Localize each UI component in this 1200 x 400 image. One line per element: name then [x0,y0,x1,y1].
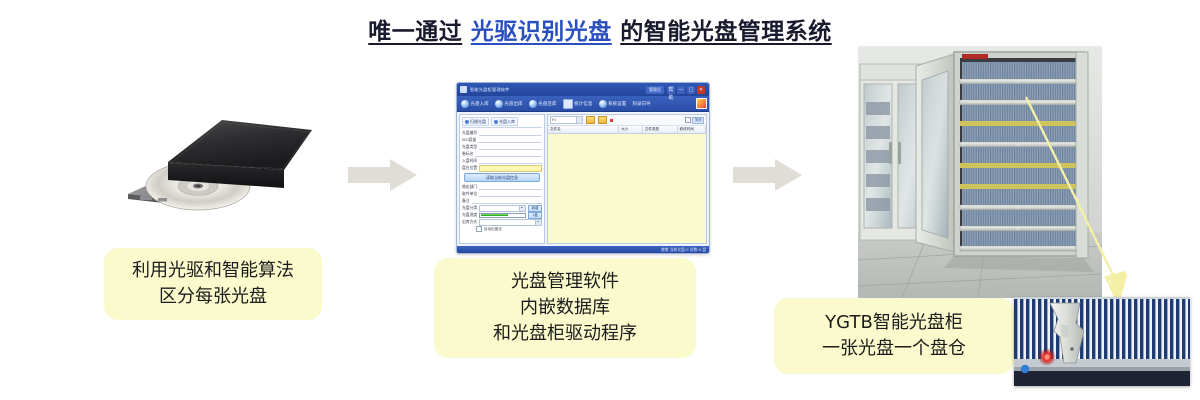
toolbar-label: 系统设置 [608,101,626,107]
software-file-list-panel: F:\ 关闭 文件名 大小 文件类型 修改时间 [547,114,707,244]
field-label: 入盘时间 [462,158,477,164]
caption-middle-line2: 内嵌数据库 [520,295,610,321]
toolbar-item-disc-return[interactable]: 光盘还库 [527,99,559,109]
volume-label-input[interactable] [475,152,542,157]
chevron-down-icon [519,206,525,211]
toolbar-item-burn[interactable]: 刻录向导 [630,100,652,108]
pickup-unit-input[interactable] [479,192,542,197]
column-header-type[interactable]: 文件类型 [643,126,678,133]
form-tab-disc-in[interactable]: 光盘入库 [491,117,518,126]
disc-in-icon [494,120,498,124]
close-toggle-group[interactable]: 关闭 [685,117,704,124]
category-select[interactable] [479,205,526,212]
disc-progress-bar [479,213,526,218]
caption-left-line2: 区分每张光盘 [159,284,267,310]
toolbar-item-disc-out[interactable]: 光盘出库 [493,99,525,109]
software-body: 扫描光盘 光盘入库 光盘编号 ISO容量 光盘类型 卷标名 [457,112,709,246]
toolbar-label: 光盘出库 [504,101,522,107]
field-label: 取件单位 [462,191,477,197]
field-label: 光盘类型 [462,144,477,150]
form-tab-scan[interactable]: 扫描光盘 [462,117,489,126]
user-label: 管理员 [646,86,664,94]
software-statusbar: 就绪 当前光盘:0 总数:0 盘 [457,246,709,254]
add-category-button[interactable]: 新增 [528,205,542,212]
field-label: 出库方式 [462,219,477,225]
title-highlight: 光驱识别光盘 [471,19,612,45]
form-row-volume-label: 卷标名 [462,151,542,157]
out-mode-select[interactable] [479,219,542,226]
toolbar-item-stats[interactable]: 统计信息 [561,98,595,110]
file-list-columns: 文件名 大小 文件类型 修改时间 [548,126,706,134]
form-tab-label: 扫描光盘 [470,118,486,125]
file-list-toolbar: F:\ 关闭 [548,115,706,126]
column-header-modified[interactable]: 修改时间 [678,126,706,133]
flow-arrow-2 [733,158,803,192]
caption-middle-line1: 光盘管理软件 [511,269,619,295]
auto-eject-checkbox-row[interactable]: 自动出盘仓 [462,226,542,232]
form-row-category: 光盘分类 新增 [462,205,542,211]
field-label: 借出部门 [462,184,477,190]
form-row-insert-time: 入盘时间 [462,158,542,164]
caption-middle-line3: 和光盘柜驱动程序 [493,321,637,347]
disc-slot-gripper-closeup [1014,297,1190,386]
field-label: 备注 [462,198,470,204]
chevron-down-icon [535,220,541,225]
column-header-size[interactable]: 大小 [619,126,643,133]
toolbar-label: 光盘还库 [538,101,556,107]
caption-right-line1: YGTB智能光盘柜 [825,310,963,336]
field-label: 盘仓位置 [462,165,477,171]
chevron-down-icon [576,117,582,123]
field-label: 光盘进度 [462,212,477,218]
file-list-rows[interactable] [548,134,706,243]
form-row-disc-type: 光盘类型 [462,144,542,150]
read-disc-info-button[interactable]: 读取当前光盘信息 [464,173,540,182]
page-title: 唯一通过 光驱识别光盘 的智能光盘管理系统 [0,12,1200,46]
disc-id-input[interactable] [479,131,542,136]
close-checkbox[interactable] [685,117,691,123]
remark-input[interactable] [472,199,542,204]
slot-position-input[interactable] [479,165,542,172]
form-row-progress: 光盘进度 1盘 [462,212,542,218]
form-row-borrow-dept: 借出部门 [462,184,542,190]
field-label: 卷标名 [462,151,473,157]
flow-arrow-1 [348,158,418,192]
window-buttons[interactable]: 帮助 — □ ✕ [667,86,706,94]
toolbar-item-disc-in[interactable]: 光盘入库 [459,99,491,109]
auto-eject-checkbox[interactable] [476,226,482,232]
toolbar-label: 光盘入库 [471,101,489,107]
title-lead: 唯一通过 [368,19,462,45]
help-button[interactable]: 帮助 [667,86,675,94]
scan-icon [465,120,469,124]
optical-drive-image [112,108,330,220]
field-label: 光盘分类 [462,205,477,211]
caption-middle: 光盘管理软件 内嵌数据库 和光盘柜驱动程序 [434,258,696,358]
app-icon [460,86,467,93]
stats-icon [563,99,573,109]
path-value: F:\ [552,117,556,123]
close-button-label[interactable]: 关闭 [692,117,704,124]
toolbar-label: 统计信息 [574,101,592,107]
close-button[interactable]: ✕ [697,86,705,94]
form-row-iso-size: ISO容量 [462,137,542,143]
auto-eject-label: 自动出盘仓 [484,227,502,232]
caption-right: YGTB智能光盘柜 一张光盘一个盘仓 [774,298,1014,374]
column-header-name[interactable]: 文件名 [548,126,619,133]
toolbar-item-settings[interactable]: 系统设置 [597,99,629,109]
progress-count-stepper[interactable]: 1盘 [528,212,542,219]
record-icon[interactable] [610,119,613,122]
disc-type-input[interactable] [479,145,542,150]
gear-icon [599,100,607,108]
folder-open-icon[interactable] [586,116,595,124]
borrow-dept-input[interactable] [479,185,542,190]
form-tabs: 扫描光盘 光盘入库 [462,117,542,128]
form-row-out-mode: 出库方式 [462,219,542,225]
minimize-button[interactable]: — [677,86,685,94]
form-row-slot-position: 盘仓位置 [462,165,542,171]
software-titlebar: 智能光盘柜管理软件 管理员 帮助 — □ ✕ [457,83,709,96]
disc-out-icon [495,100,503,108]
disc-cabinet-photo [858,46,1102,298]
field-label: ISO容量 [462,137,476,143]
iso-size-input[interactable] [478,138,542,143]
disc-in-icon [461,100,469,108]
form-row-pickup-unit: 取件单位 [462,191,542,197]
title-tail: 的智能光盘管理系统 [620,19,832,45]
software-window: 智能光盘柜管理软件 管理员 帮助 — □ ✕ 光盘入库 光盘出库 光盘还库 统计… [456,82,710,254]
caption-left-line1: 利用光驱和智能算法 [132,258,294,284]
insert-time-input[interactable] [479,159,542,164]
form-row-remark: 备注 [462,198,542,204]
software-title-text: 智能光盘柜管理软件 [470,87,510,93]
disc-return-icon [529,100,537,108]
form-row-disc-id: 光盘编号 [462,130,542,136]
folder-icon[interactable] [598,116,607,124]
toolbar-label: 刻录向导 [632,101,650,107]
software-form-panel: 扫描光盘 光盘入库 光盘编号 ISO容量 光盘类型 卷标名 [459,114,545,244]
caption-left: 利用光驱和智能算法 区分每张光盘 [104,248,322,320]
path-select[interactable]: F:\ [550,116,583,124]
field-label: 光盘编号 [462,130,477,136]
caption-right-line2: 一张光盘一个盘仓 [822,336,966,362]
form-tab-label: 光盘入库 [499,118,515,125]
brand-logo-icon [696,98,707,109]
maximize-button[interactable]: □ [687,86,695,94]
